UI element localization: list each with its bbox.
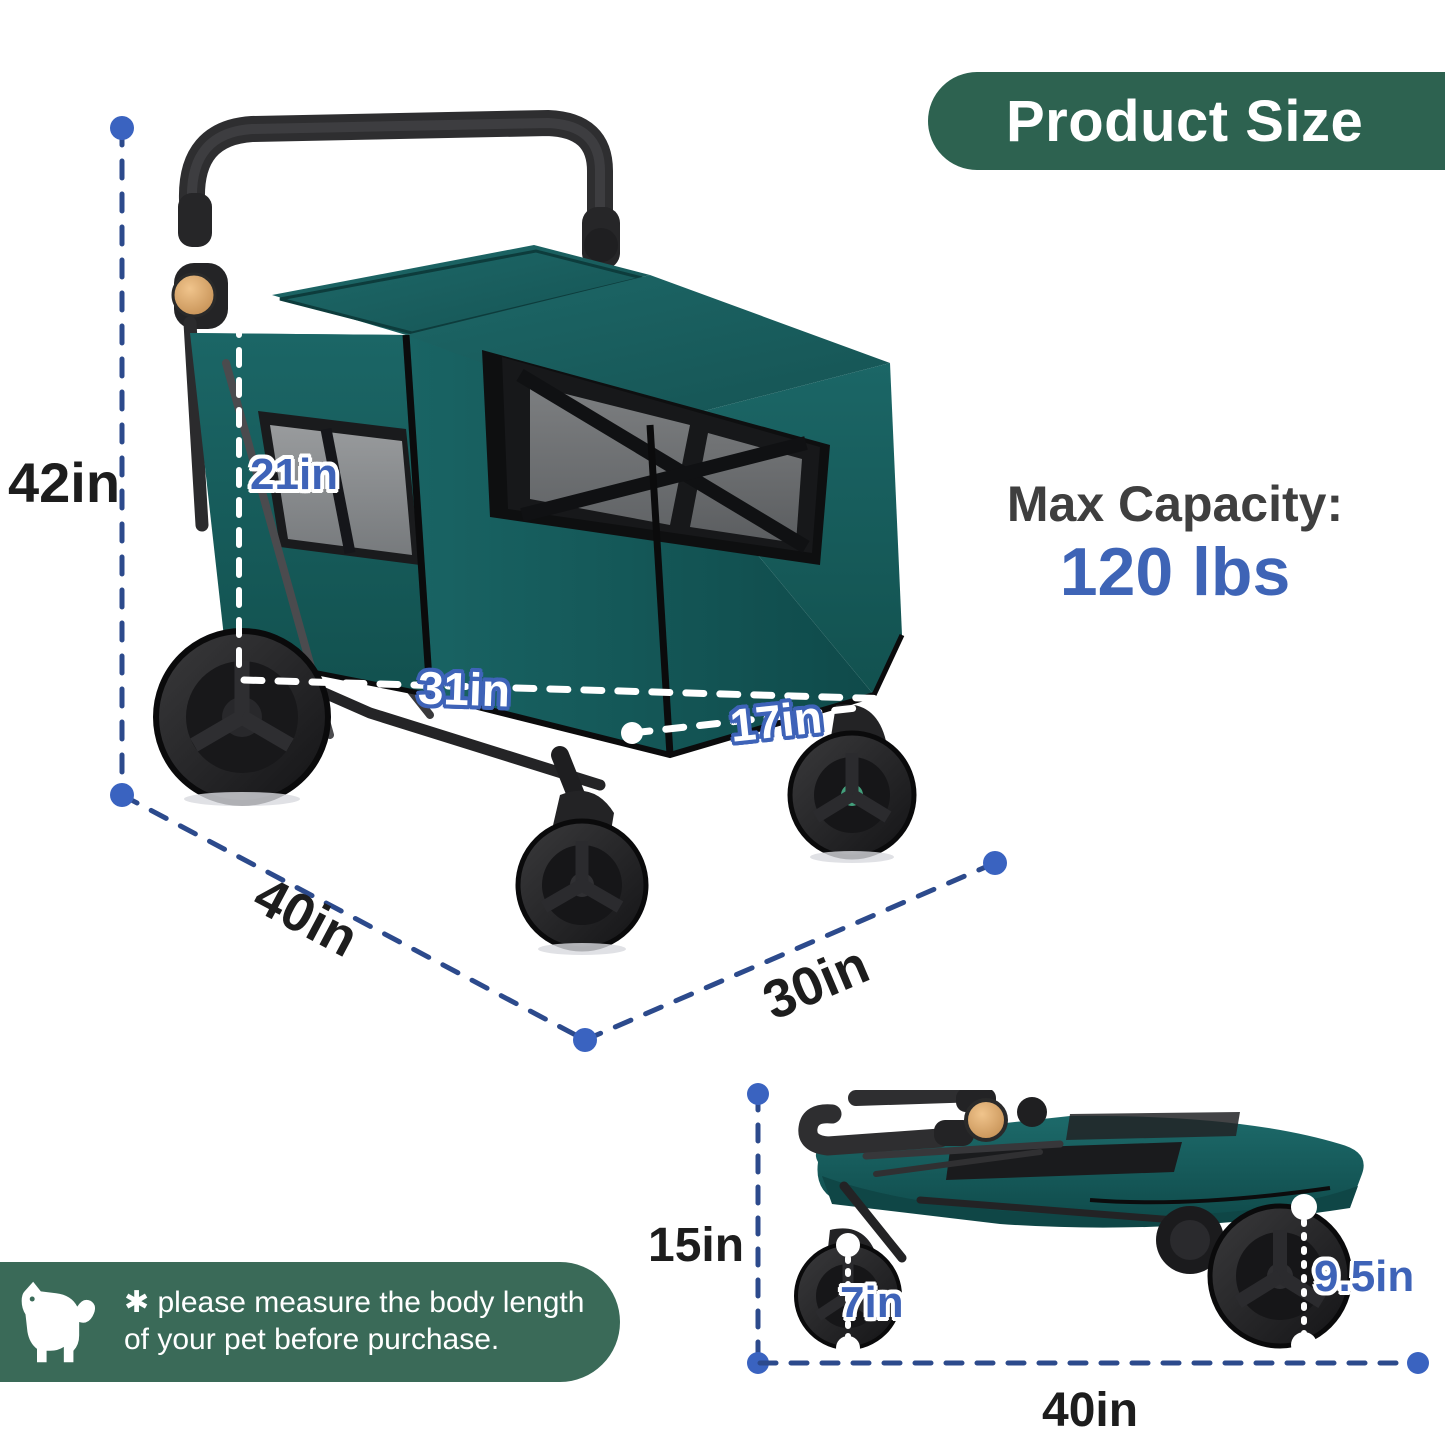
stroller-folded-illustration [770, 1090, 1390, 1370]
product-size-banner-label: Product Size [1006, 88, 1363, 155]
dimension-label-folded-height-15: 15in [648, 1218, 744, 1273]
dimension-label-height-42: 42in [8, 450, 120, 515]
rear-wheel [156, 631, 328, 806]
stroller-expanded-illustration [130, 95, 930, 975]
dimension-label-canopy-21: 21in [250, 450, 338, 500]
dimension-label-folded-length-40: 40in [1042, 1383, 1138, 1438]
dimension-label-length-31: 31in [417, 660, 511, 717]
dimension-label-rear-wheel-95: 9.5in [1314, 1252, 1414, 1302]
note-line-1: ✱ please measure the body length [124, 1285, 584, 1322]
pet-measure-note-text: ✱ please measure the body length of your… [124, 1285, 584, 1358]
max-capacity-block: Max Capacity: 120 lbs [960, 478, 1390, 609]
product-size-banner: Product Size [928, 72, 1445, 170]
dimension-label-base-17: 17in [727, 689, 824, 752]
max-capacity-title: Max Capacity: [960, 478, 1390, 531]
max-capacity-value: 120 lbs [960, 535, 1390, 610]
pet-measure-note-banner: ✱ please measure the body length of your… [0, 1262, 620, 1382]
dimension-label-front-wheel-7: 7in [840, 1278, 904, 1328]
dog-silhouette-icon [12, 1276, 108, 1368]
infographic-canvas: Product Size Max Capacity: 120 lbs 42in … [0, 0, 1445, 1445]
note-line-2: of your pet before purchase. [124, 1322, 584, 1359]
